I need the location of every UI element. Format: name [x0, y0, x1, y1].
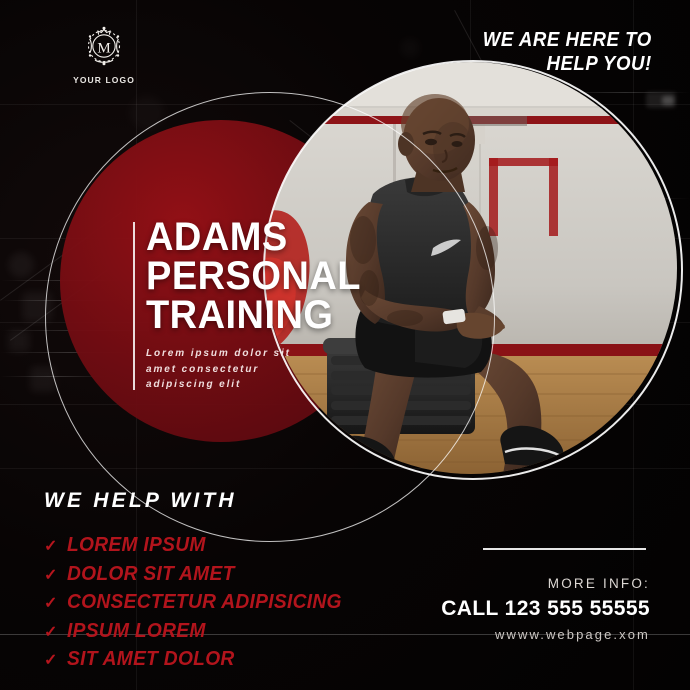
headline-vertical-rule	[133, 222, 135, 390]
headline-line-2: PERSONAL	[146, 257, 361, 296]
list-item: ✓ SIT AMET DOLOR	[44, 648, 353, 671]
services-heading: WE HELP WITH	[44, 489, 237, 513]
tagline-line-1: WE ARE HERE TO	[483, 28, 652, 52]
subtext-line-2: amet consectetur	[146, 362, 291, 378]
list-item-label: IPSUM LOREM	[67, 620, 206, 643]
page-title: ADAMS PERSONAL TRAINING	[146, 218, 372, 334]
wreath-monogram-icon: M	[80, 22, 128, 70]
more-info-label: MORE INFO:	[441, 576, 650, 591]
tagline: WE ARE HERE TO HELP YOU!	[483, 28, 652, 77]
tagline-line-2: HELP YOU!	[483, 52, 652, 76]
logo-caption: YOUR LOGO	[73, 75, 135, 85]
check-icon: ✓	[44, 625, 57, 641]
subtext-line-1: Lorem ipsum dolor sit	[146, 346, 291, 362]
list-item-label: DOLOR SIT AMET	[67, 563, 235, 586]
list-item: ✓ LOREM IPSUM	[44, 534, 353, 557]
check-icon: ✓	[44, 653, 57, 669]
fitness-ad-poster: M YOUR LOGO WE ARE HERE TO HELP YOU! ADA…	[0, 0, 690, 690]
list-item-label: LOREM IPSUM	[67, 534, 206, 557]
list-item: ✓ DOLOR SIT AMET	[44, 563, 353, 586]
services-list: ✓ LOREM IPSUM ✓ DOLOR SIT AMET ✓ CONSECT…	[44, 534, 353, 677]
logo-monogram-letter: M	[97, 41, 110, 57]
list-item-label: SIT AMET DOLOR	[67, 648, 235, 671]
contact-block: MORE INFO: CALL 123 555 55555 wwww.webpa…	[441, 576, 650, 642]
phone-number[interactable]: CALL 123 555 55555	[441, 597, 650, 621]
headline-line-3: TRAINING	[146, 296, 361, 335]
contact-divider	[483, 548, 646, 550]
list-item: ✓ CONSECTETUR ADIPISICING	[44, 591, 353, 614]
logo[interactable]: M YOUR LOGO	[73, 22, 135, 85]
check-icon: ✓	[44, 568, 57, 584]
headline-line-1: ADAMS	[146, 218, 361, 257]
subtext-line-3: adipiscing elit	[146, 377, 291, 393]
headline-subtext: Lorem ipsum dolor sit amet consectetur a…	[146, 346, 291, 393]
list-item: ✓ IPSUM LOREM	[44, 620, 353, 643]
website-url[interactable]: wwww.webpage.xom	[441, 627, 650, 642]
check-icon: ✓	[44, 596, 57, 612]
check-icon: ✓	[44, 539, 57, 555]
list-item-label: CONSECTETUR ADIPISICING	[67, 591, 342, 614]
